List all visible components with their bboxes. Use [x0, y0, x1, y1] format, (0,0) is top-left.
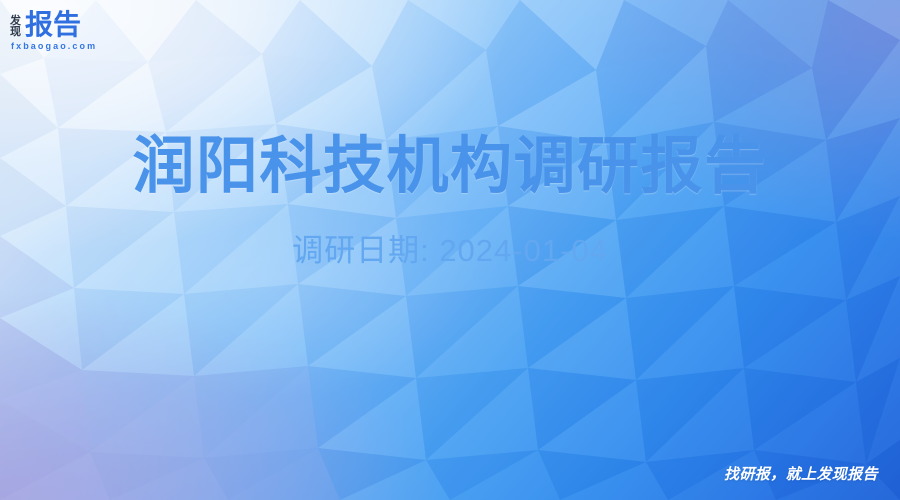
survey-date-subtitle: 调研日期: 2024-01-04 — [0, 232, 900, 269]
brand-mark-bottom-char: 现 — [10, 27, 21, 38]
brand-mark-stacked: 发 现 — [10, 16, 21, 39]
brand-logo[interactable]: 发 现 报告 fxbaogao.com — [10, 9, 170, 55]
brand-url: fxbaogao.com — [11, 41, 170, 51]
brand-logo-row: 发 现 报告 — [10, 9, 170, 39]
report-cover-slide: 发 现 报告 fxbaogao.com 润阳科技机构调研报告 调研日期: 202… — [0, 0, 900, 500]
brand-wordmark: 报告 — [25, 11, 81, 39]
footer-slogan: 找研报，就上发现报告 — [724, 463, 878, 484]
page-title: 润阳科技机构调研报告 — [0, 132, 900, 201]
